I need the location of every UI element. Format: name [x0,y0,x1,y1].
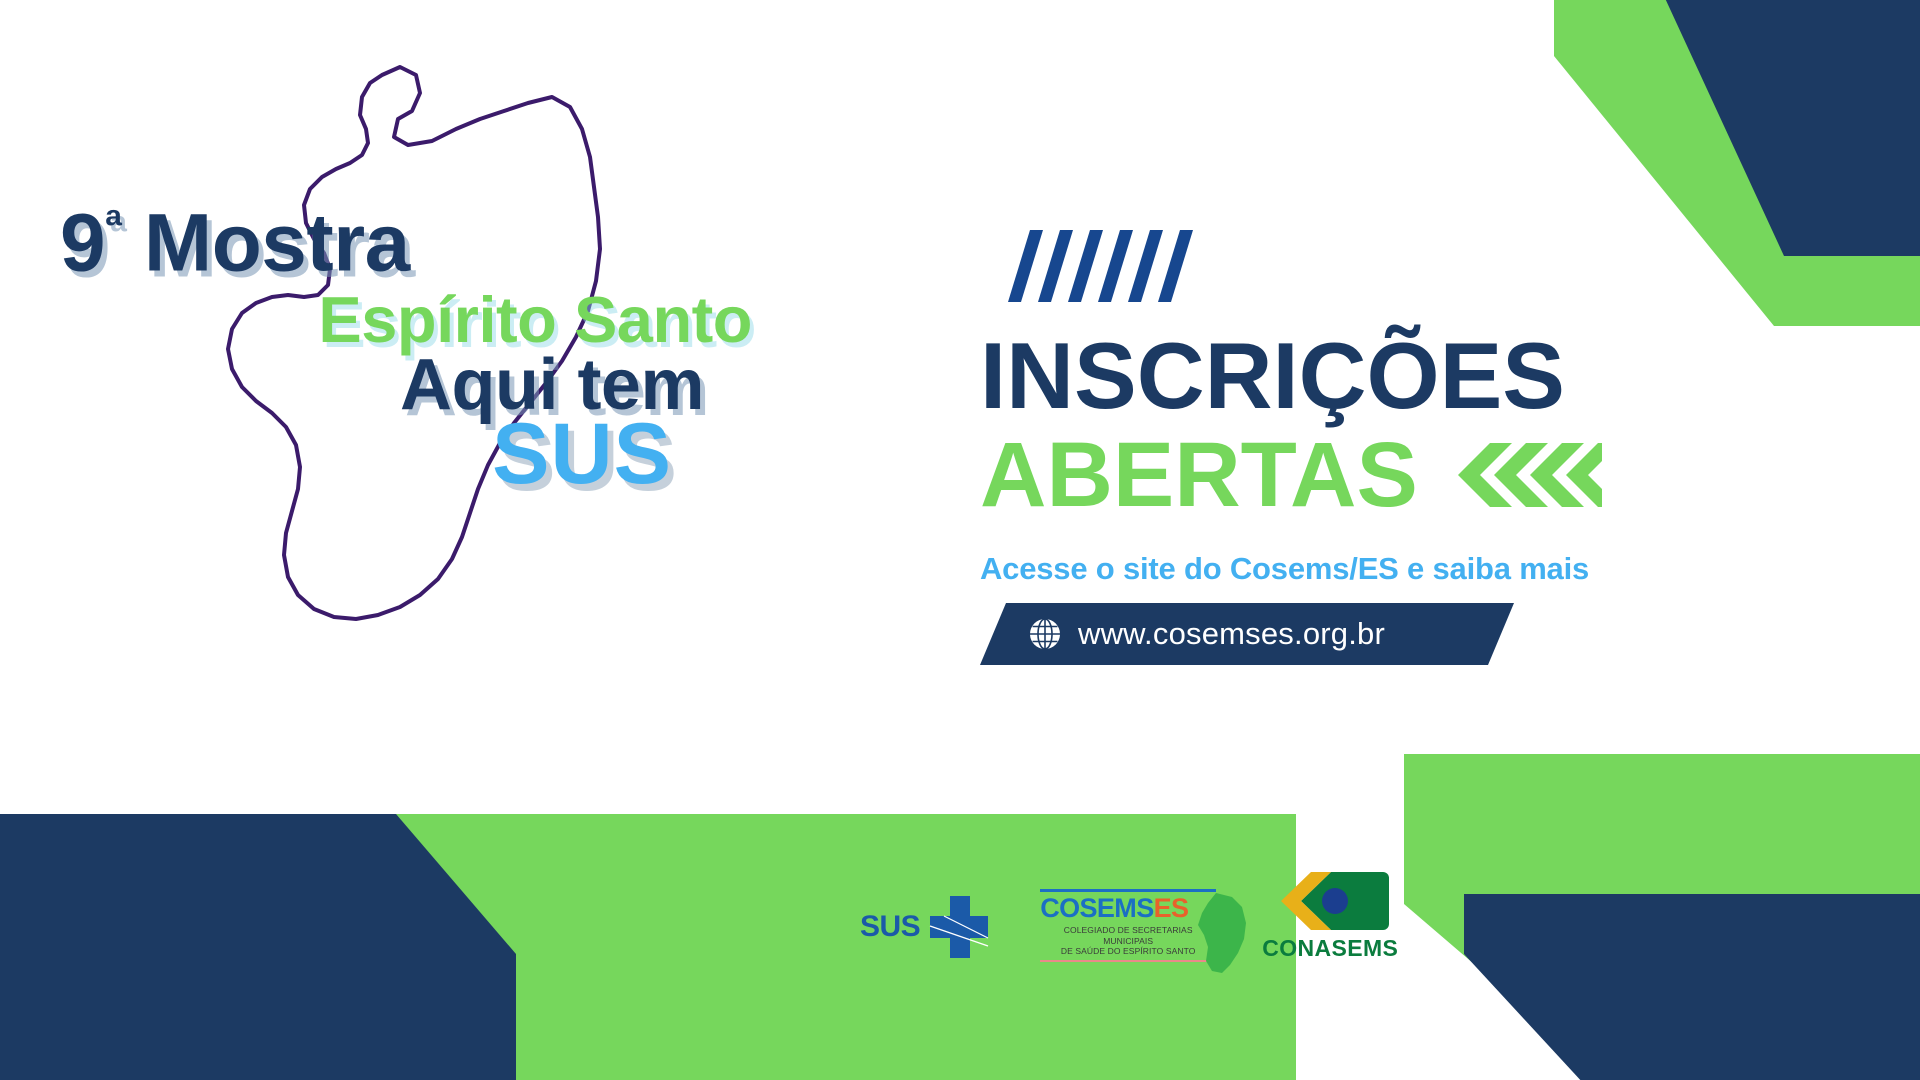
cosems-map-icon [1192,891,1250,977]
banner-stage: 9ª Mostra Espírito Santo Aqui tem SUS IN… [0,0,1920,1080]
abertas-subtitle: ABERTAS [980,429,1418,521]
headline-ordinal: ª [105,200,122,252]
headline-number: 9 [60,197,105,288]
headline-word-mostra: Mostra [144,197,410,288]
tagline-text: Acesse o site do Cosems/ES e saiba mais [980,551,1800,587]
cosems-top-rule [1040,889,1216,892]
conasems-logo-word: CONASEMS [1262,935,1398,962]
chevron-left-icon-group [1454,443,1602,507]
conasems-logo: CONASEMS [1262,870,1398,962]
partner-logo-row: SUS COSEMSES COLEGIADO DE SECRETARIAS MU… [860,870,1398,962]
headline-line-4: SUS [60,415,760,495]
cosems-logo-word: COSEMSES [1040,895,1188,922]
cosems-subtitle-line-1: COLEGIADO DE SECRETARIAS MUNICIPAIS [1040,925,1216,946]
website-url-text: www.cosemses.org.br [1078,616,1385,652]
cosems-subtitle-line-2: DE SAÚDE DO ESPÍRITO SANTO [1040,946,1216,957]
cosems-bottom-rule [1040,960,1216,962]
cosems-word-accent: ES [1154,893,1189,923]
diagonal-stripes-decoration [1008,230,1198,302]
cosems-es-logo: COSEMSES COLEGIADO DE SECRETARIAS MUNICI… [1040,889,1216,962]
sus-logo: SUS [860,892,994,962]
conasems-mark-icon [1271,870,1389,932]
sus-cross-icon [924,892,994,962]
bottom-left-navy-shape [0,814,516,1080]
inscricoes-title: INSCRIÇÕES [980,329,1800,423]
globe-icon [1028,617,1062,651]
abertas-row: ABERTAS [980,429,1800,521]
headline-line-2: Espírito Santo [60,290,760,350]
bottom-right-navy-shape [1404,834,1920,1080]
announcement-block: INSCRIÇÕES ABERTAS Acesse o site do Cose… [980,230,1800,665]
website-url-bar[interactable]: www.cosemses.org.br [980,603,1514,665]
sus-logo-word: SUS [860,910,920,944]
event-headline: 9ª Mostra Espírito Santo Aqui tem SUS [60,205,760,495]
cosems-word-main: COSEMS [1040,893,1153,923]
headline-line-1: 9ª Mostra [60,205,760,282]
cosems-subtitle: COLEGIADO DE SECRETARIAS MUNICIPAIS DE S… [1040,925,1216,957]
